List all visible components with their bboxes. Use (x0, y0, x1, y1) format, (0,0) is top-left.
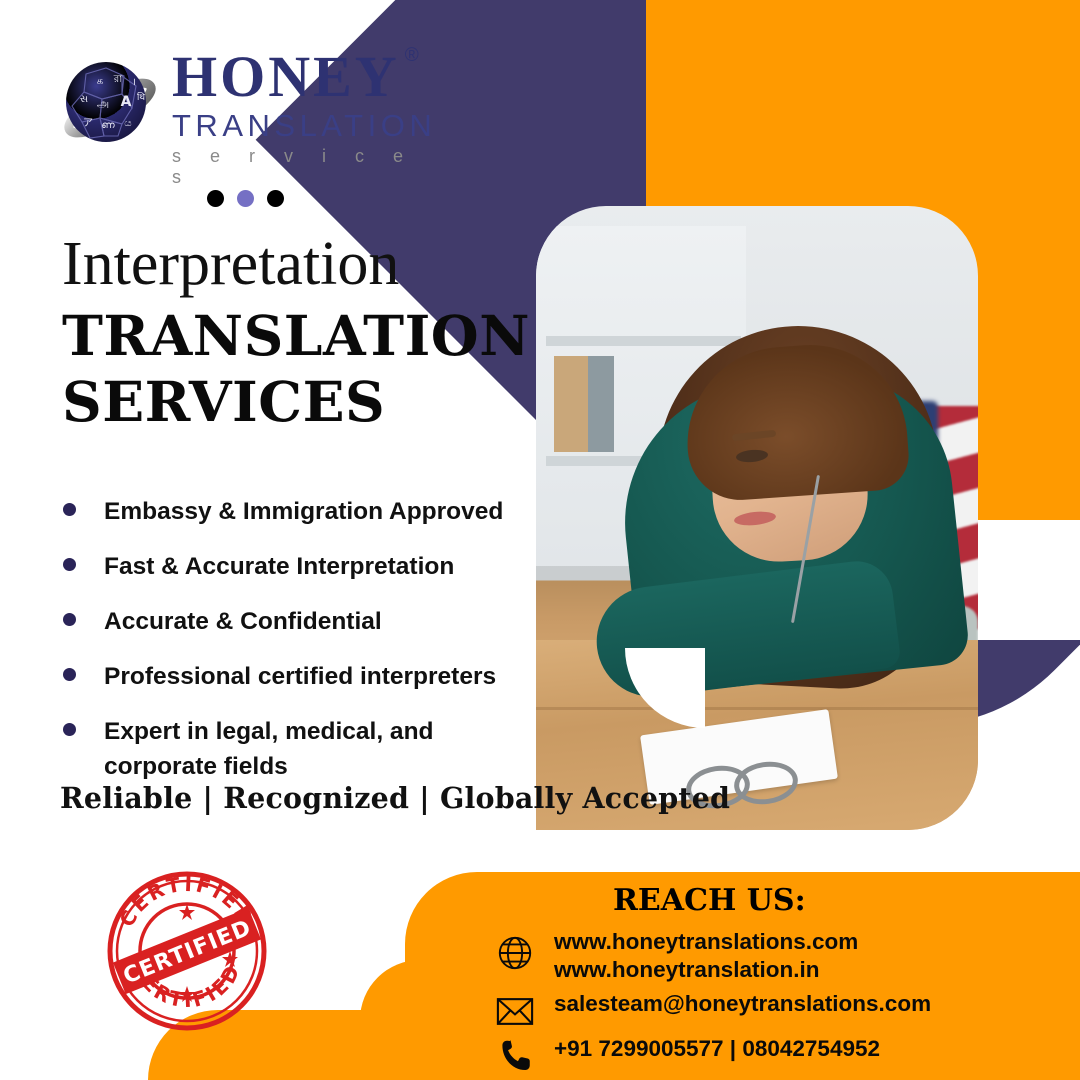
bullet-dot-icon (63, 503, 76, 516)
list-item: Embassy & Immigration Approved (58, 494, 528, 529)
phone-icon (494, 1035, 536, 1077)
list-item-label: Fast & Accurate Interpretation (104, 549, 454, 584)
certified-stamp: CERTIFIED CERTIFIED CERTIFIED (104, 868, 270, 1034)
contact-website[interactable]: www.honeytranslations.com www.honeytrans… (554, 928, 858, 984)
list-item: Expert in legal, medical, and corporate … (58, 714, 528, 784)
list-item: Accurate & Confidential (58, 604, 528, 639)
divider-dot-3 (267, 190, 284, 207)
svg-text:।: । (132, 77, 136, 88)
svg-text:थि: थि (137, 91, 145, 103)
photo-shelf-line (546, 336, 741, 346)
contact-email[interactable]: salesteam@honeytranslations.com (554, 990, 931, 1018)
list-item-label: Professional certified interpreters (104, 659, 496, 694)
svg-text:ය: ය (124, 118, 131, 129)
svg-text:அ: அ (97, 97, 109, 110)
contact-title: REACH US: (613, 883, 806, 918)
poster-canvas: க রা । સ அ A थि ア ണ ය HONEY ® TRANSLATIO… (0, 0, 1080, 1080)
photo-scene (536, 206, 978, 830)
globe-languages-icon: க রা । સ அ A थि ア ണ ය (56, 54, 160, 158)
headline-main-line2: SERVICES (62, 369, 532, 435)
svg-text:ア: ア (83, 118, 93, 129)
headline-main-line1: TRANSLATION (62, 303, 532, 369)
contact-phone[interactable]: +91 7299005577 | 08042754952 (554, 1035, 880, 1063)
bullet-dot-icon (63, 668, 76, 681)
list-item-label: Embassy & Immigration Approved (104, 494, 503, 529)
contact-website-line2[interactable]: www.honeytranslation.in (554, 957, 819, 982)
photo-book-2 (588, 356, 614, 452)
list-item-label: Expert in legal, medical, and corporate … (104, 714, 449, 784)
logo-subtitle: TRANSLATION (172, 108, 436, 144)
interpreter-photo (536, 206, 978, 830)
globe-icon (494, 932, 536, 974)
contact-row-email[interactable]: salesteam@honeytranslations.com (494, 990, 931, 1032)
contact-website-line1[interactable]: www.honeytranslations.com (554, 929, 858, 954)
logo-name-text: HONEY (172, 44, 400, 109)
list-item-label: Accurate & Confidential (104, 604, 382, 639)
envelope-icon (494, 990, 536, 1032)
svg-text:க: க (97, 76, 103, 87)
photo-desk-edge (536, 707, 978, 710)
headline-script-line: Interpretation (62, 232, 532, 297)
bullet-dot-icon (63, 613, 76, 626)
logo-tagline: s e r v i c e s (172, 146, 436, 188)
brand-logo: க রা । સ அ A थि ア ണ ය HONEY ® TRANSLATIO… (56, 48, 416, 168)
headline-block: Interpretation TRANSLATION SERVICES (62, 232, 532, 435)
white-notch-shape (978, 520, 1080, 640)
svg-text:রা: রা (113, 74, 124, 85)
bullet-dot-icon (63, 723, 76, 736)
features-list: Embassy & Immigration Approved Fast & Ac… (58, 494, 528, 804)
dots-divider (207, 190, 284, 207)
headline-main: TRANSLATION SERVICES (62, 303, 532, 435)
svg-text:A: A (121, 94, 132, 110)
bullet-dot-icon (63, 558, 76, 571)
svg-text:ണ: ണ (101, 120, 115, 131)
divider-dot-2 (237, 190, 254, 207)
logo-name: HONEY ® (172, 48, 400, 106)
contact-row-phone[interactable]: +91 7299005577 | 08042754952 (494, 1035, 880, 1077)
list-item: Professional certified interpreters (58, 659, 528, 694)
svg-text:સ: સ (80, 94, 88, 105)
divider-dot-1 (207, 190, 224, 207)
logo-wordmark: HONEY ® TRANSLATION s e r v i c e s (172, 48, 436, 188)
photo-book (554, 356, 588, 452)
contact-row-website[interactable]: www.honeytranslations.com www.honeytrans… (494, 928, 858, 984)
list-item: Fast & Accurate Interpretation (58, 549, 528, 584)
registered-mark-icon: ® (405, 46, 422, 65)
tagline: Reliable | Recognized | Globally Accepte… (60, 781, 730, 815)
